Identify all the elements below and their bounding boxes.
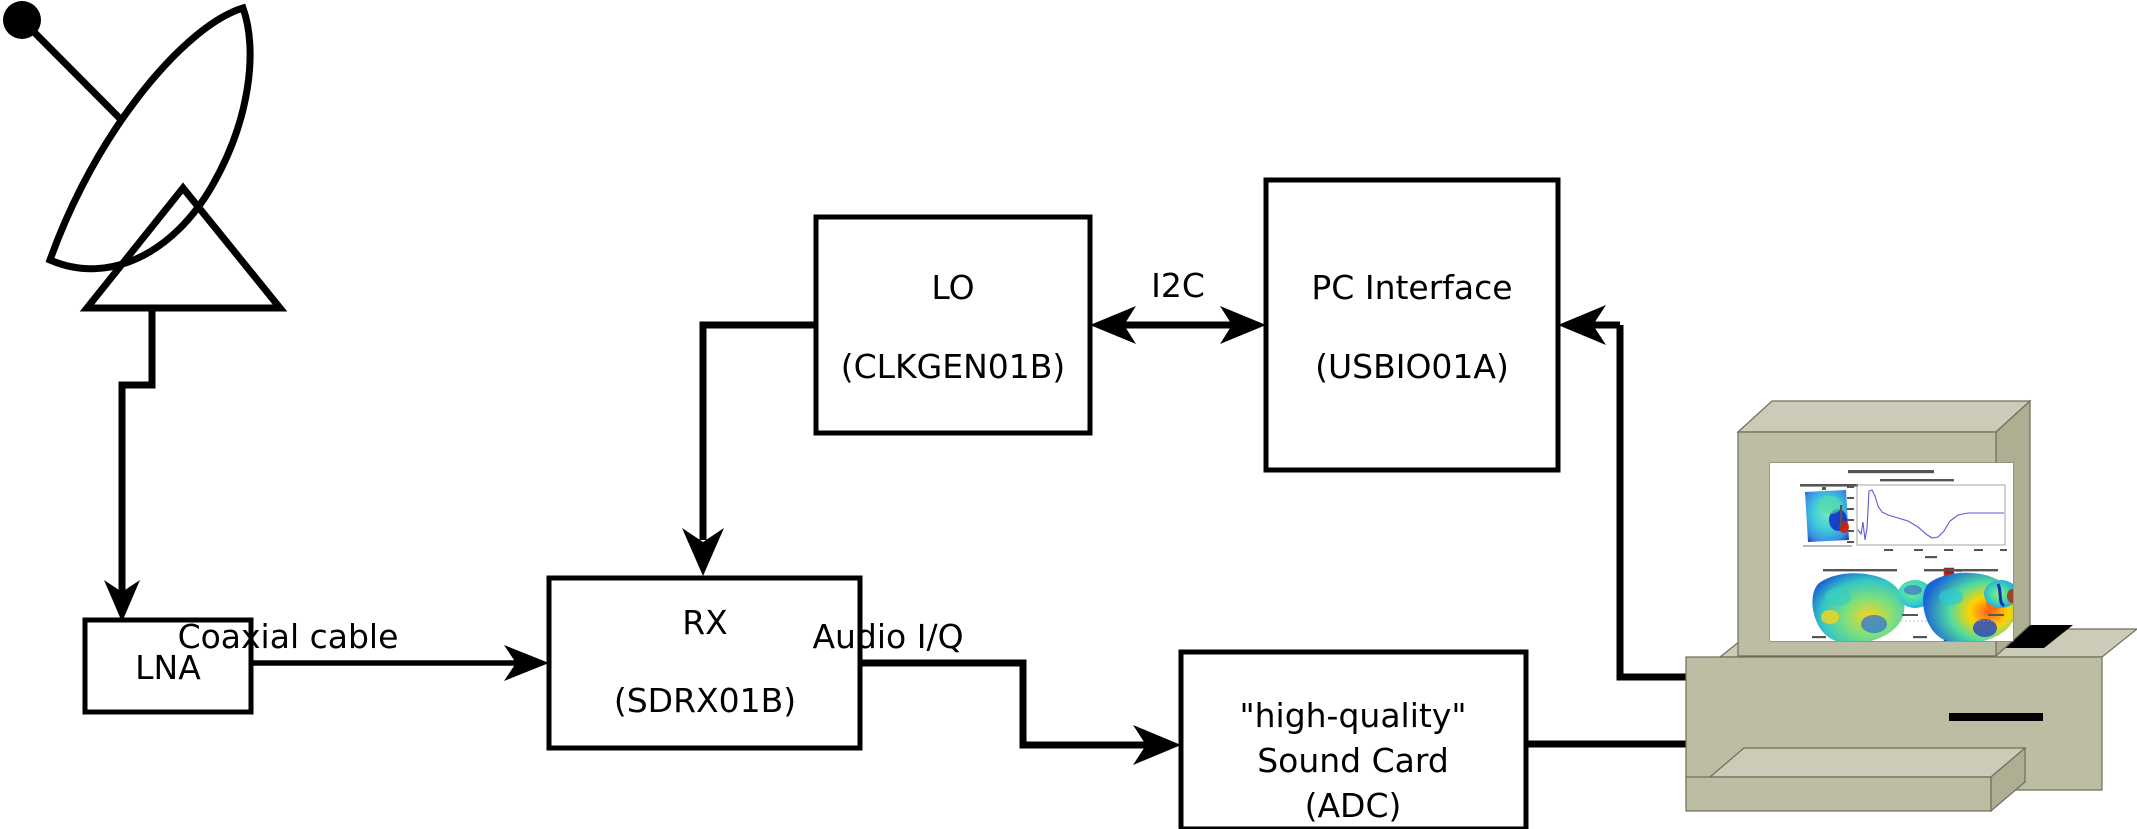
rx-label-primary: RX	[682, 603, 728, 642]
edge-lo-to-rx	[682, 325, 816, 576]
satellite-dish-icon	[3, 1, 280, 622]
block-lo[interactable]: LO (CLKGEN01B)	[816, 217, 1090, 433]
pc-interface-label-primary: PC Interface	[1311, 268, 1512, 307]
lo-to-rx-wire	[703, 325, 816, 540]
lo-label-part: (CLKGEN01B)	[841, 347, 1066, 386]
audio-iq-wire	[860, 663, 1150, 745]
usb-wire	[1620, 325, 1698, 677]
sound-card-label-line2: Sound Card	[1257, 741, 1449, 780]
screen-plot-content	[1770, 463, 2018, 654]
edge-usb	[1558, 305, 1733, 697]
sound-card-label-line3: (ADC)	[1305, 786, 1402, 825]
audio-iq-label: Audio I/Q	[812, 617, 963, 656]
block-pc-interface[interactable]: PC Interface (USBIO01A)	[1266, 180, 1558, 470]
pc-interface-label-part: (USBIO01A)	[1315, 347, 1509, 386]
feed-horn-icon	[3, 1, 41, 39]
antenna-to-lna-wire	[122, 310, 152, 596]
block-sound-card[interactable]: "high-quality" Sound Card (ADC)	[1181, 652, 1526, 829]
coaxial-cable-label: Coaxial cable	[178, 617, 399, 656]
monitor-top-face	[1738, 401, 2030, 432]
keyboard-front-face[interactable]	[1686, 777, 1991, 811]
lo-label-primary: LO	[931, 268, 974, 307]
floppy-drive-slot-icon	[1949, 713, 2043, 721]
block-diagram-svg: LNA Coaxial cable RX (SDRX01B) LO (CLKGE…	[0, 0, 2137, 829]
topography-map	[1803, 490, 1852, 546]
diagram-canvas: LNA Coaxial cable RX (SDRX01B) LO (CLKGE…	[0, 0, 2137, 829]
block-rx[interactable]: RX (SDRX01B)	[549, 578, 860, 748]
rx-label-part: (SDRX01B)	[614, 681, 796, 720]
keyboard-top-face[interactable]	[1710, 748, 2025, 777]
edge-audio-iq: Audio I/Q	[812, 617, 1181, 765]
pc-interface-box[interactable]	[1266, 180, 1558, 470]
lo-box[interactable]	[816, 217, 1090, 433]
edge-i2c: I2C	[1090, 266, 1266, 344]
sound-card-label-line1: "high-quality"	[1239, 696, 1466, 735]
desktop-computer-icon[interactable]	[1686, 401, 2137, 811]
i2c-label: I2C	[1151, 266, 1205, 305]
